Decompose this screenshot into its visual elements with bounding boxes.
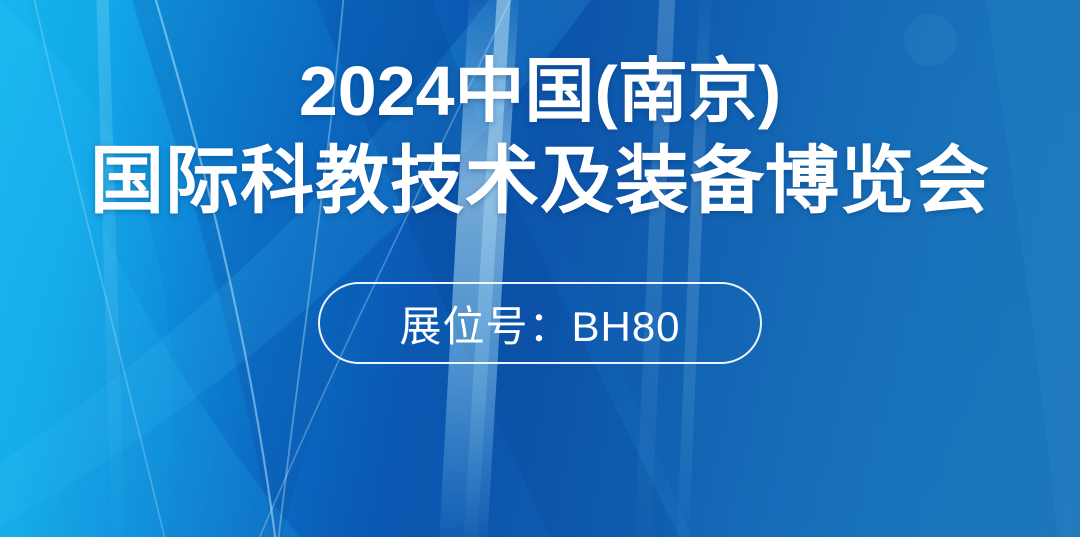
exhibition-banner: 2024中国(南京) 国际科教技术及装备博览会 展位号：BH80 (0, 0, 1080, 537)
title-line-1: 2024中国(南京) (299, 56, 781, 126)
banner-content: 2024中国(南京) 国际科教技术及装备博览会 展位号：BH80 (0, 0, 1080, 537)
title-line-2: 国际科教技术及装备博览会 (90, 144, 990, 218)
booth-number-area: 展位号：BH80 (0, 282, 1080, 364)
booth-number-badge: 展位号：BH80 (318, 282, 762, 364)
